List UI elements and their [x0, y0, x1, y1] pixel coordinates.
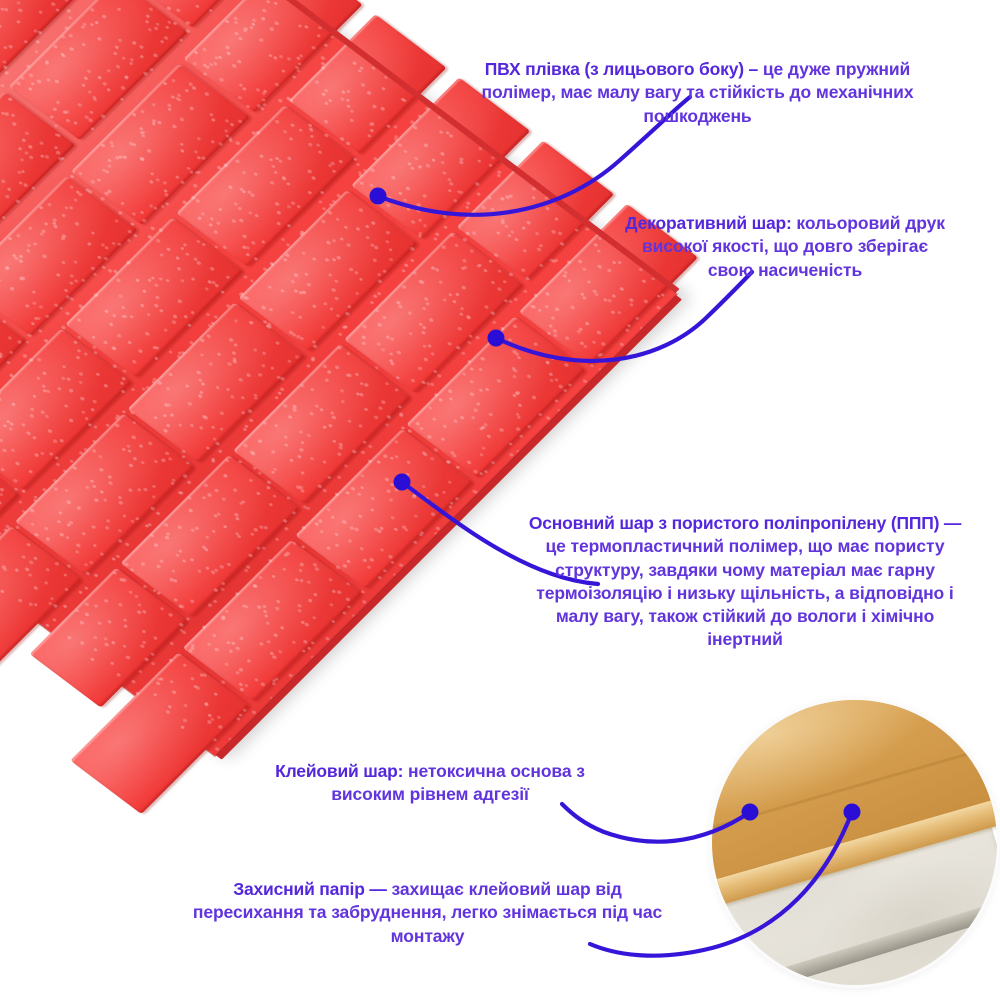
- panel-photo: [0, 0, 550, 812]
- callout-adhesive-layer-heading: Клейовий шар:: [275, 761, 403, 781]
- callout-core-layer-heading: Основний шар з пористого поліпропілену (…: [529, 513, 961, 533]
- callout-pvc-film: ПВХ плівка (з лицьового боку) – це дуже …: [470, 58, 925, 128]
- callout-core-layer-body: це термопластичний полімер, що має порис…: [536, 536, 953, 649]
- callout-protective-paper: Захисний папір — захищає клейовий шар ві…: [190, 878, 665, 948]
- callout-decorative-layer-heading: Декоративний шар:: [625, 213, 792, 233]
- callout-core-layer: Основний шар з пористого поліпропілену (…: [520, 512, 970, 652]
- callout-protective-paper-heading: Захисний папір —: [233, 879, 386, 899]
- callout-adhesive-layer: Клейовий шар: нетоксична основа з високи…: [250, 760, 610, 807]
- inset-photo-image: [712, 700, 997, 985]
- callout-decorative-layer: Декоративний шар: кольоровий друк високо…: [620, 212, 950, 282]
- infographic-canvas: ПВХ плівка (з лицьового боку) – це дуже …: [0, 0, 1000, 1000]
- callout-pvc-film-heading: ПВХ плівка (з лицьового боку) –: [485, 59, 758, 79]
- inset-closeup-photo: [712, 700, 997, 985]
